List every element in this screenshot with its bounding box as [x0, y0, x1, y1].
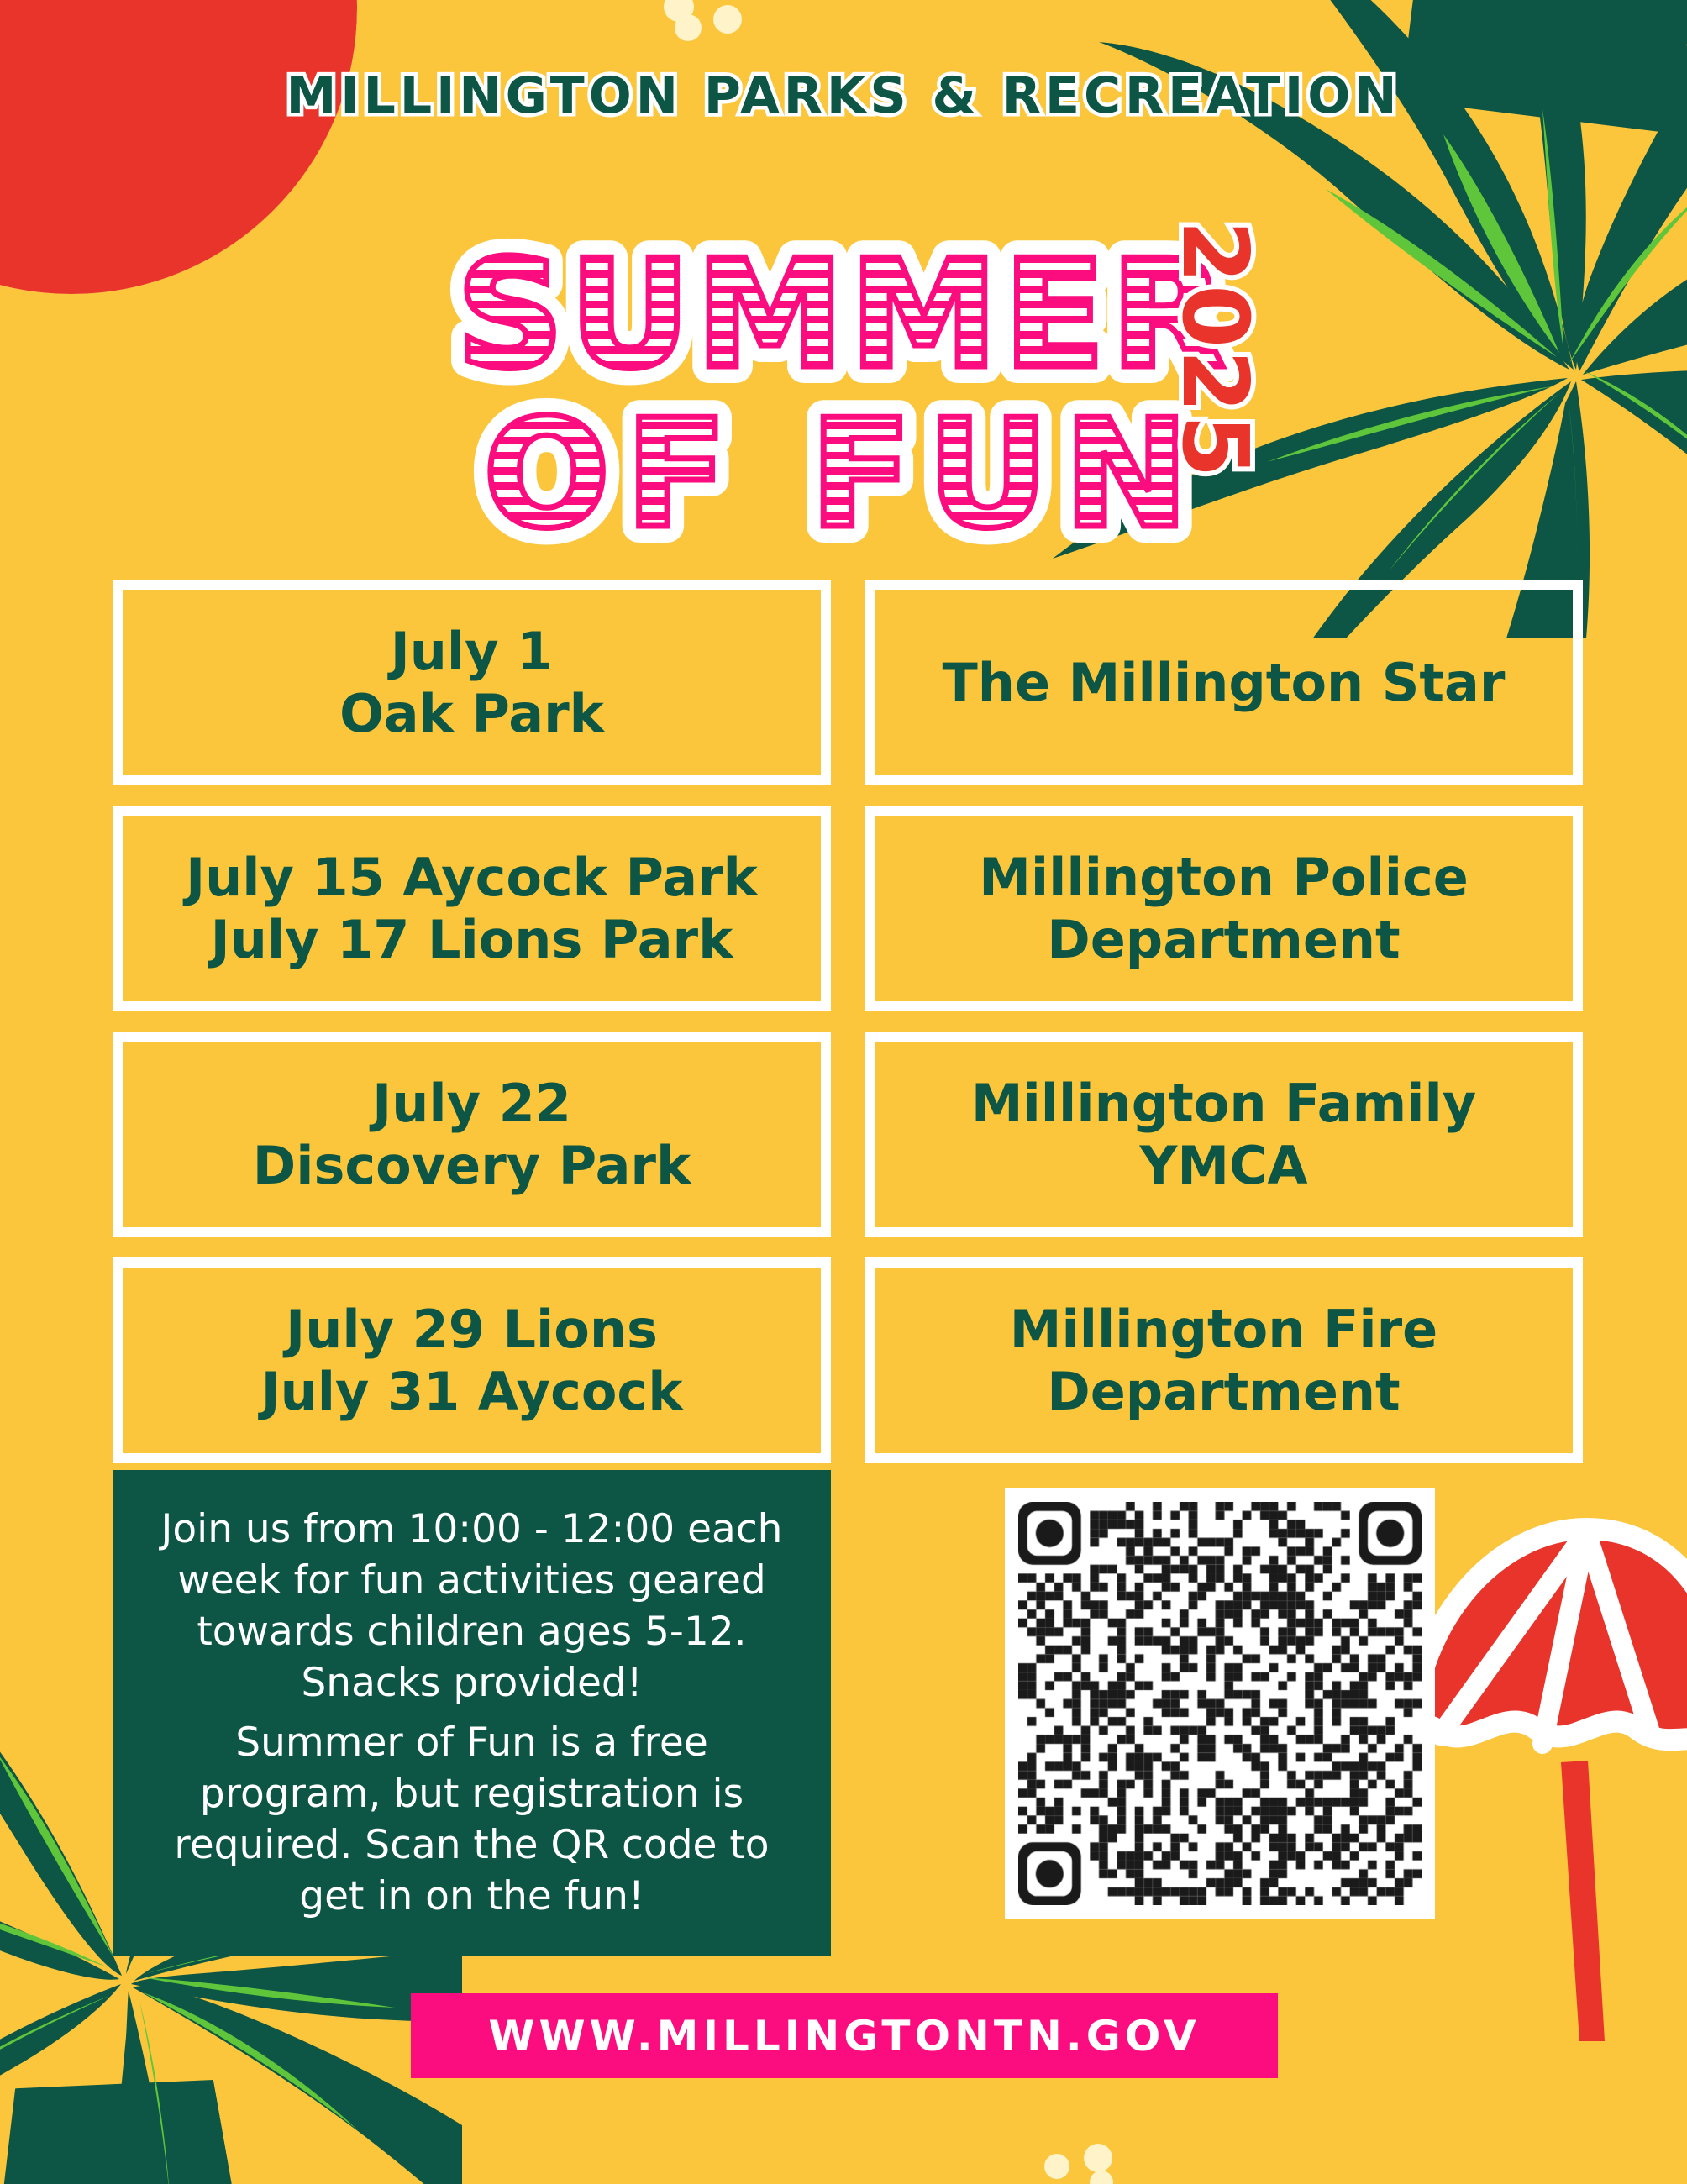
title-line2: OF FUN	[483, 387, 1204, 561]
info-panel: Join us from 10:00 - 12:00 each week for…	[113, 1470, 831, 1956]
main-title: SUMMER SUMMER OF FUN OF FUN	[0, 225, 1687, 561]
schedule-date-label: July 1 Oak Park	[339, 621, 604, 743]
schedule-date-label: July 29 Lions July 31 Aycock	[261, 1299, 683, 1421]
year-label: 2025	[1164, 220, 1264, 590]
title-line1: SUMMER	[456, 228, 1231, 402]
schedule-partner-label: Millington Family YMCA	[891, 1073, 1556, 1195]
website-url: WWW.MILLINGTONTN.GOV	[488, 2012, 1200, 2061]
schedule-date-cell: July 15 Aycock Park July 17 Lions Park	[113, 806, 831, 1011]
schedule-partner-label: The Millington Star	[943, 652, 1506, 713]
info-paragraph-1: Join us from 10:00 - 12:00 each week for…	[151, 1504, 792, 1709]
website-banner[interactable]: WWW.MILLINGTONTN.GOV	[411, 1993, 1278, 2078]
confetti-dot	[1084, 2144, 1112, 2172]
confetti-dot	[1090, 2171, 1113, 2184]
schedule-partner-cell: Millington Fire Department	[865, 1257, 1583, 1463]
confetti-dot	[1044, 2154, 1069, 2179]
schedule-partner-label: Millington Fire Department	[1010, 1299, 1437, 1421]
poster-canvas: MiLLiNGTON PARKS & RECREATiON SUMMER SUM…	[0, 0, 1687, 2184]
schedule-date-label: July 22 Discovery Park	[253, 1073, 691, 1195]
schedule-partner-cell: Millington Police Department	[865, 806, 1583, 1011]
schedule-date-label: July 15 Aycock Park July 17 Lions Park	[186, 847, 758, 969]
qr-code-image	[1018, 1502, 1422, 1905]
organization-name: MiLLiNGTON PARKS & RECREATiON	[0, 0, 1687, 123]
qr-code[interactable]	[1005, 1488, 1435, 1919]
schedule-partner-label: Millington Police Department	[979, 847, 1469, 969]
schedule-date-cell: July 22 Discovery Park	[113, 1032, 831, 1237]
info-spacer	[151, 1709, 792, 1716]
schedule-grid: July 1 Oak Park The Millington Star July…	[113, 580, 1583, 1463]
schedule-partner-cell: The Millington Star	[865, 580, 1583, 785]
schedule-date-cell: July 1 Oak Park	[113, 580, 831, 785]
poster-header: MiLLiNGTON PARKS & RECREATiON	[0, 0, 1687, 123]
schedule-date-cell: July 29 Lions July 31 Aycock	[113, 1257, 831, 1463]
schedule-partner-cell: Millington Family YMCA	[865, 1032, 1583, 1237]
info-paragraph-2: Summer of Fun is a free program, but reg…	[151, 1717, 792, 1922]
